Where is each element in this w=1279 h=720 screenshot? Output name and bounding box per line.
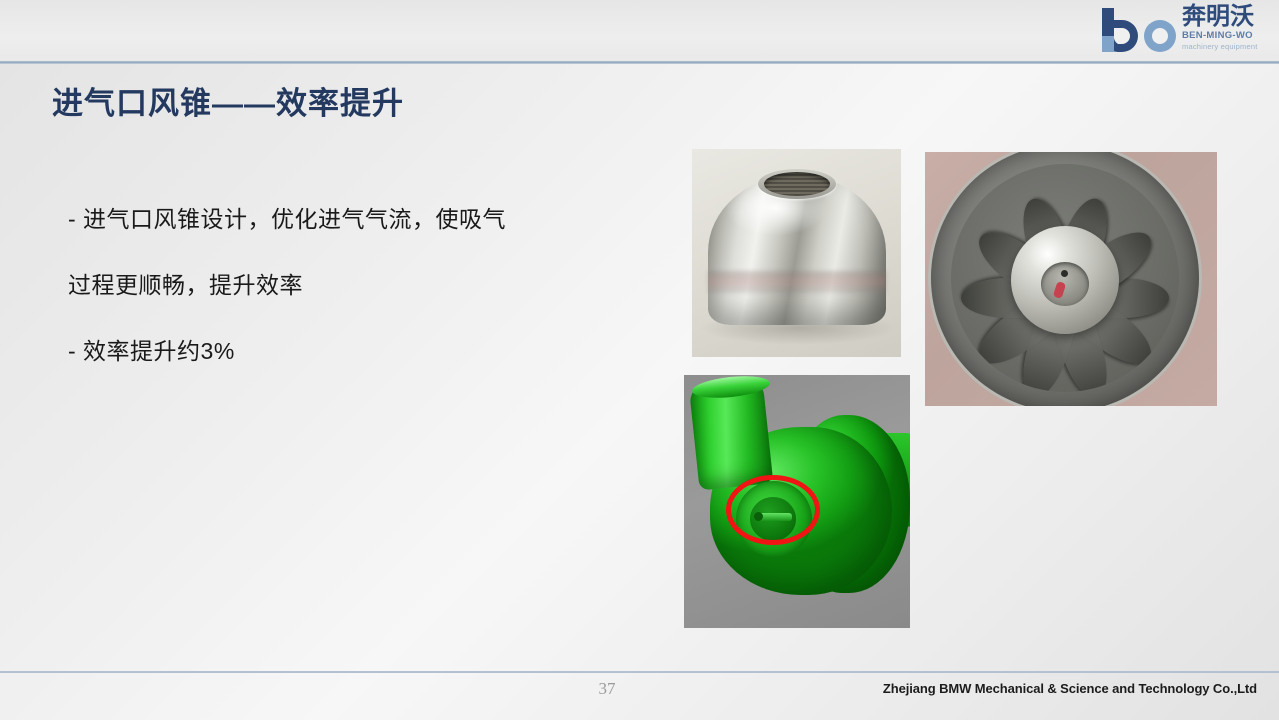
company-logo: 奔明沃 BEN-MING-WO machinery equipment (1098, 2, 1274, 60)
body-line-1: - 进气口风锥设计，优化进气气流，使吸气 (68, 186, 628, 252)
body-line-3: - 效率提升约3% (68, 318, 628, 384)
logo-english-name: BEN-MING-WO (1182, 30, 1274, 42)
body-line-2: 过程更顺畅，提升效率 (68, 252, 628, 318)
footer-divider (0, 671, 1279, 673)
header-divider (0, 61, 1279, 64)
page-number: 37 (575, 679, 639, 699)
impeller-with-cone-photo (925, 152, 1217, 406)
inlet-cone-photo (692, 149, 901, 357)
bo-monogram-icon (1098, 6, 1180, 54)
cad-blower-render (684, 375, 910, 628)
cone-reflection-band (708, 271, 886, 293)
body-text-block: - 进气口风锥设计，优化进气气流，使吸气 过程更顺畅，提升效率 - 效率提升约3… (68, 186, 628, 384)
impeller-hub-centre-dot (1061, 270, 1068, 277)
footer-company-name: Zhejiang BMW Mechanical & Science and Te… (883, 681, 1257, 696)
red-highlight-ellipse (726, 475, 820, 545)
header-band (0, 0, 1279, 62)
logo-chinese-name: 奔明沃 (1182, 4, 1274, 30)
logo-tagline: machinery equipment (1182, 42, 1274, 52)
cone-threaded-hole (764, 172, 830, 196)
page-title: 进气口风锥——效率提升 (52, 78, 404, 123)
logo-wordmark: 奔明沃 BEN-MING-WO machinery equipment (1182, 4, 1274, 52)
slide-canvas: 奔明沃 BEN-MING-WO machinery equipment 进气口风… (0, 0, 1279, 720)
